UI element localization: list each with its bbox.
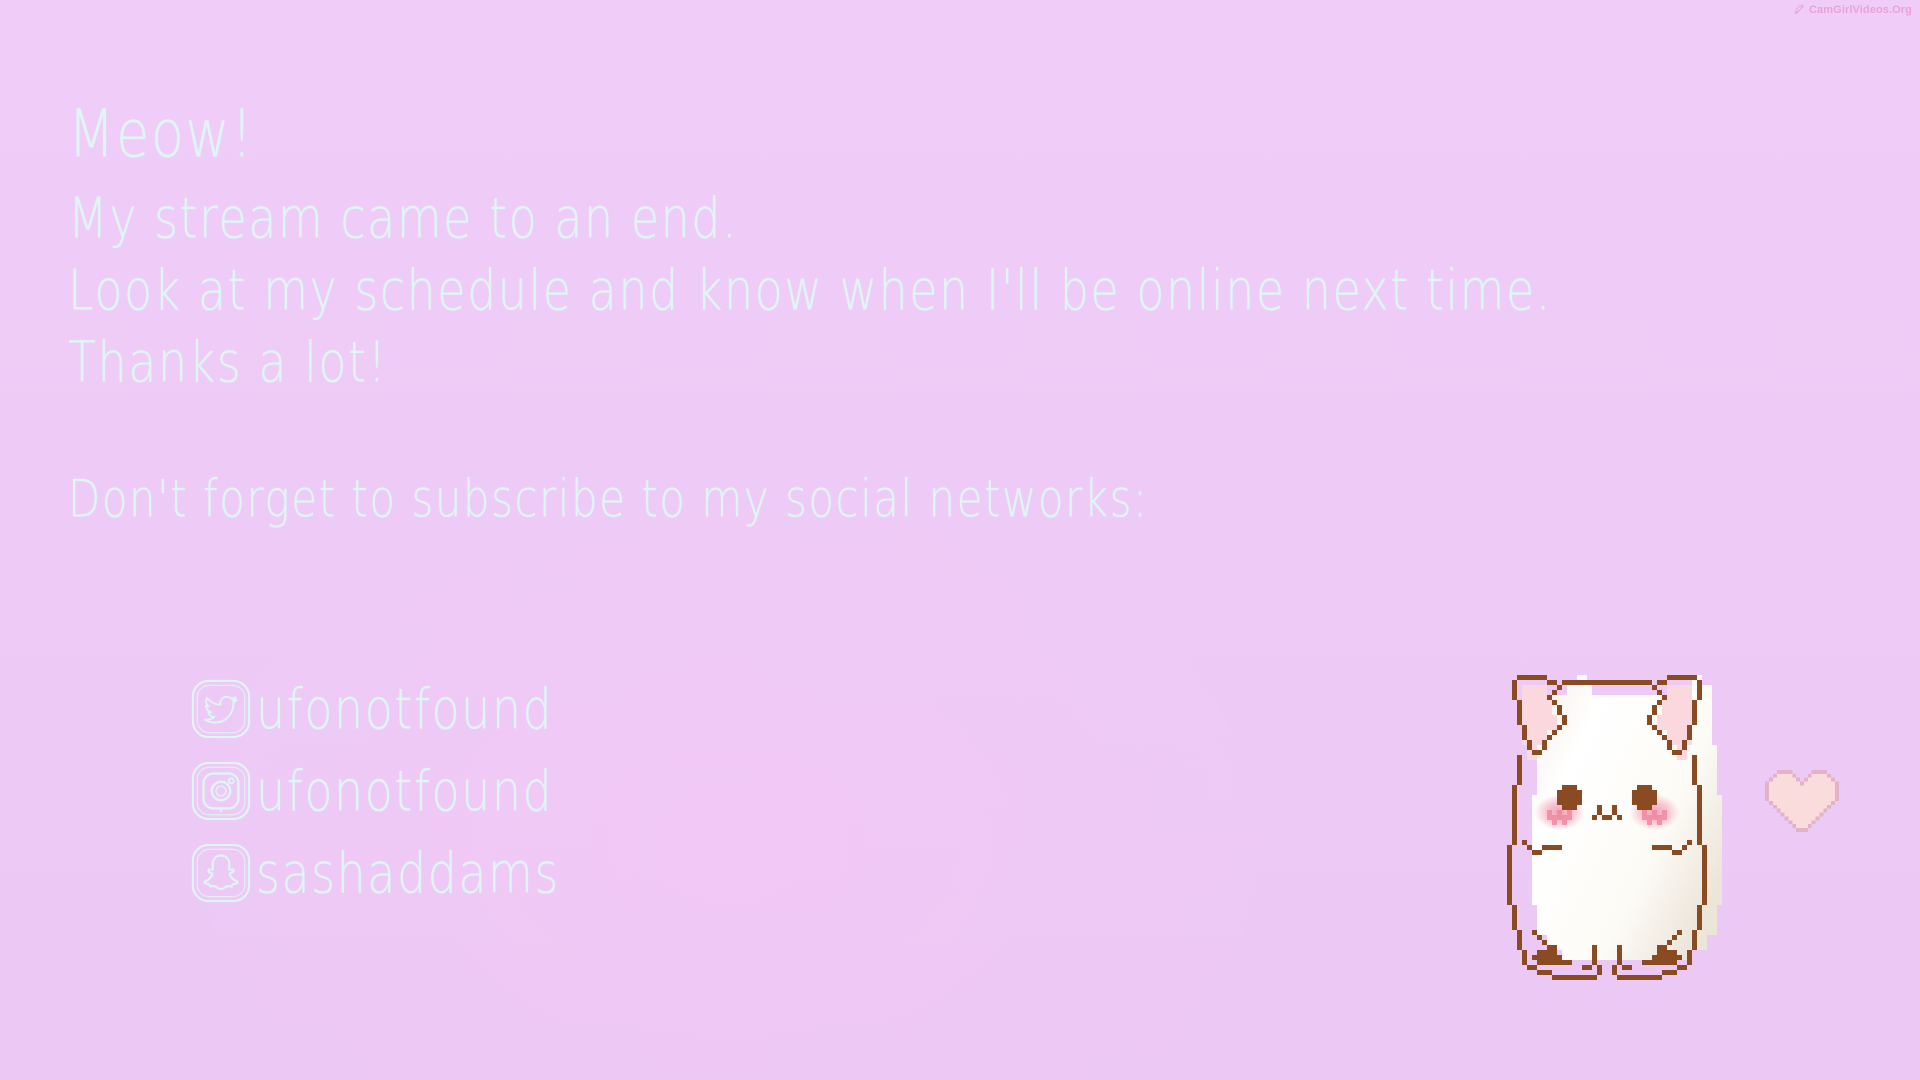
message-line-2: Look at my schedule and know when I'll b… bbox=[68, 252, 1858, 328]
social-cta: Don't forget to subscribe to my social n… bbox=[68, 464, 1858, 535]
social-handle-twitter: ufonotfound bbox=[256, 676, 553, 742]
snapchat-icon bbox=[190, 842, 252, 904]
watermark-text: CamGirlVideos.Org bbox=[1809, 4, 1912, 16]
message-block: Meow! My stream came to an end. Look at … bbox=[68, 92, 1858, 522]
offline-screen: CamGirlVideos.Org Meow! My stream came t… bbox=[0, 0, 1920, 1080]
social-link-twitter[interactable]: ufonotfound bbox=[190, 668, 560, 750]
social-link-instagram[interactable]: ufonotfound bbox=[190, 750, 560, 832]
social-handle-instagram: ufonotfound bbox=[256, 758, 553, 824]
social-handle-snapchat: sashaddams bbox=[256, 840, 560, 906]
social-link-snapchat[interactable]: sashaddams bbox=[190, 832, 560, 914]
twitter-icon bbox=[190, 678, 252, 740]
pixel-heart bbox=[1764, 766, 1840, 832]
message-line-3: Thanks a lot! bbox=[68, 324, 1858, 400]
social-links-list: ufonotfound ufonotfound sashaddams bbox=[190, 668, 560, 914]
page-title: Meow! bbox=[68, 92, 1858, 177]
pixel-cat bbox=[1487, 655, 1727, 1005]
camgirl-logo-icon bbox=[1793, 3, 1806, 16]
instagram-icon bbox=[190, 760, 252, 822]
watermark: CamGirlVideos.Org bbox=[1793, 3, 1912, 16]
message-line-1: My stream came to an end. bbox=[68, 180, 1858, 256]
